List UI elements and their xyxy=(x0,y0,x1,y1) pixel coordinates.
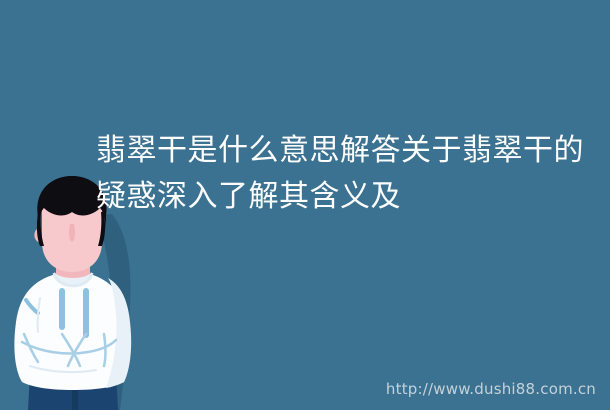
watermark-url: http://www.dushi88.com.cn xyxy=(386,380,596,398)
page-title: 翡翠干是什么意思解答关于翡翠干的疑惑深入了解其含义及 xyxy=(96,128,596,220)
image-canvas: 翡翠干是什么意思解答关于翡翠干的疑惑深入了解其含义及 http://www.du… xyxy=(0,0,610,410)
